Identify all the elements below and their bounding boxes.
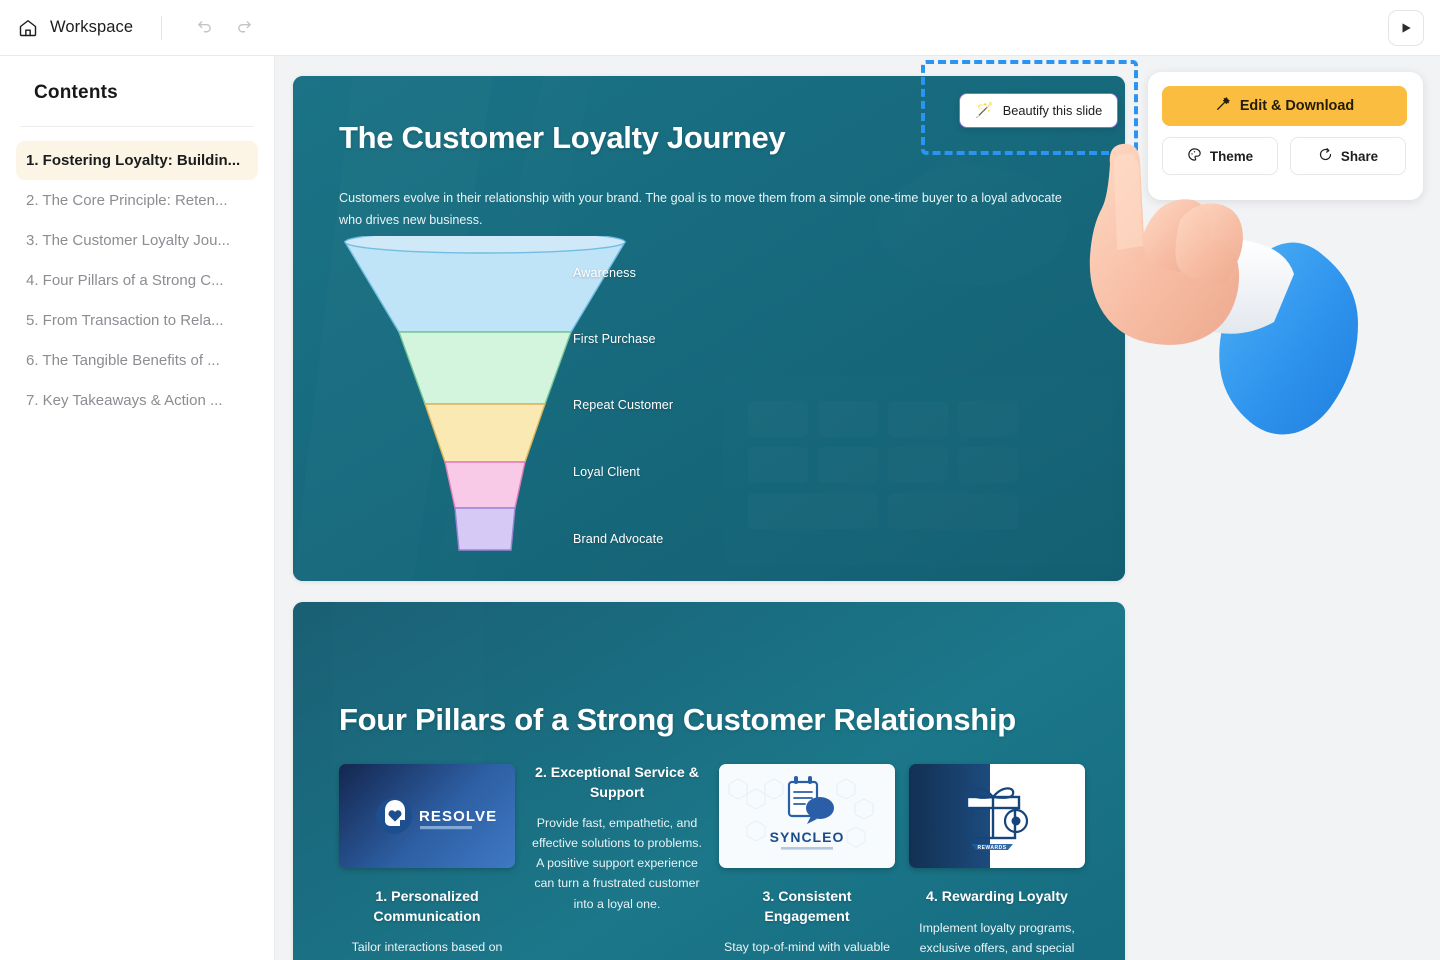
sidebar-item-6[interactable]: 6. The Tangible Benefits of ... xyxy=(16,341,258,380)
present-play-button[interactable] xyxy=(1388,10,1424,46)
share-button[interactable]: Share xyxy=(1290,137,1406,175)
funnel-stage-labels: Awareness First Purchase Repeat Customer… xyxy=(573,238,903,558)
pillar-4-heading: 4. Rewarding Loyalty xyxy=(926,888,1068,908)
pillar-2-body: Provide fast, empathetic, and effective … xyxy=(529,813,705,913)
resolve-logo-card: RESOLVE xyxy=(339,764,515,868)
svg-text:RESOLVE: RESOLVE xyxy=(419,808,497,825)
pillar-4: REWARDS 4. Rewarding Loyalty Implement l… xyxy=(909,764,1085,960)
syncleo-logo-card: SYNCLEO xyxy=(719,764,895,868)
redo-icon[interactable] xyxy=(230,14,258,42)
top-bar: Workspace xyxy=(0,0,1440,56)
sidebar: Contents 1. Fostering Loyalty: Buildin..… xyxy=(0,56,275,960)
table-of-contents-list: 1. Fostering Loyalty: Buildin... 2. The … xyxy=(0,127,274,420)
theme-palette-icon xyxy=(1187,147,1202,165)
four-pillars-group: RESOLVE 1. Personalized Communication Ta… xyxy=(339,764,1087,960)
resolve-brand-logo: RESOLVE xyxy=(339,764,515,868)
topbar-left-group: Workspace xyxy=(0,14,258,42)
contents-heading: Contents xyxy=(0,56,274,104)
funnel-label-first-purchase: First Purchase xyxy=(573,332,656,346)
sidebar-item-1[interactable]: 1. Fostering Loyalty: Buildin... xyxy=(16,141,258,180)
slide-1-subtitle: Customers evolve in their relationship w… xyxy=(339,188,1081,231)
pillar-1-heading: 1. Personalized Communication xyxy=(339,888,515,927)
slide-2[interactable]: Four Pillars of a Strong Customer Relati… xyxy=(293,602,1125,960)
sidebar-item-4[interactable]: 4. Four Pillars of a Strong C... xyxy=(16,261,258,300)
pillar-1: RESOLVE 1. Personalized Communication Ta… xyxy=(339,764,515,960)
share-refresh-icon xyxy=(1318,147,1333,165)
funnel-label-loyal-client: Loyal Client xyxy=(573,465,640,479)
pillar-1-body: Tailor interactions based on past purcha… xyxy=(339,937,515,960)
theme-label: Theme xyxy=(1210,149,1253,164)
pillar-2: 2. Exceptional Service & Support Provide… xyxy=(529,764,705,960)
pillar-4-body: Implement loyalty programs, exclusive of… xyxy=(909,918,1085,960)
pillar-3-body: Stay top-of-mind with valuable content, … xyxy=(719,937,895,960)
slide-1-title: The Customer Loyalty Journey xyxy=(339,120,785,156)
slide-action-panel: Edit & Download Theme Share xyxy=(1148,72,1423,200)
magic-wand-icon: 🪄 xyxy=(975,103,994,118)
sidebar-item-5[interactable]: 5. From Transaction to Rela... xyxy=(16,301,258,340)
edit-download-label: Edit & Download xyxy=(1240,98,1354,114)
slide-2-title: Four Pillars of a Strong Customer Relati… xyxy=(339,702,1016,738)
pillar-3: SYNCLEO 3. Consistent Engagement Stay to… xyxy=(719,764,895,960)
edit-and-download-button[interactable]: Edit & Download xyxy=(1162,86,1407,126)
beautify-button-label: Beautify this slide xyxy=(1003,103,1103,118)
undo-icon[interactable] xyxy=(190,14,218,42)
share-label: Share xyxy=(1341,149,1378,164)
funnel-label-repeat-customer: Repeat Customer xyxy=(573,398,673,412)
topbar-divider xyxy=(161,16,162,40)
gift-reward-card: REWARDS xyxy=(909,764,1085,868)
panel-secondary-row: Theme Share xyxy=(1162,137,1409,175)
beautify-this-slide-button[interactable]: 🪄 Beautify this slide xyxy=(959,93,1118,128)
gift-box-icon: REWARDS xyxy=(909,764,1085,868)
magic-wand-edit-icon xyxy=(1215,96,1231,116)
pillar-3-heading: 3. Consistent Engagement xyxy=(719,888,895,927)
svg-text:SYNCLEO: SYNCLEO xyxy=(770,829,845,845)
svg-text:REWARDS: REWARDS xyxy=(977,845,1006,851)
sidebar-item-3[interactable]: 3. The Customer Loyalty Jou... xyxy=(16,221,258,260)
sidebar-item-7[interactable]: 7. Key Takeaways & Action ... xyxy=(16,381,258,420)
funnel-label-awareness: Awareness xyxy=(573,266,636,280)
funnel-label-brand-advocate: Brand Advocate xyxy=(573,532,663,546)
slide-1[interactable]: The Customer Loyalty Journey Customers e… xyxy=(293,76,1125,581)
pillar-2-heading: 2. Exceptional Service & Support xyxy=(529,764,705,803)
syncleo-brand-logo: SYNCLEO xyxy=(719,764,895,868)
workspace-label: Workspace xyxy=(50,18,133,37)
home-icon[interactable] xyxy=(18,18,38,38)
topbar-right-group xyxy=(1388,10,1440,46)
theme-button[interactable]: Theme xyxy=(1162,137,1278,175)
sidebar-item-2[interactable]: 2. The Core Principle: Reten... xyxy=(16,181,258,220)
